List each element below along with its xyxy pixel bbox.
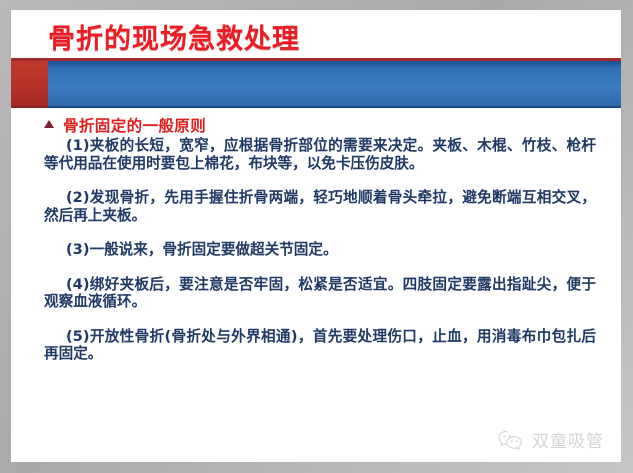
- page-title: 骨折的现场急救处理: [48, 26, 300, 53]
- triangle-bullet-icon: [44, 120, 54, 128]
- paragraph-item: (5)开放性骨折(骨折处与外界相通)，首先要处理伤口，止血，用消毒布巾包扎后再固…: [44, 328, 596, 363]
- slide-canvas: 骨折的现场急救处理 骨折固定的一般原则 (1)夹板的长短，宽窄，应根据骨折部位的…: [11, 10, 621, 462]
- section-heading-label: 骨折固定的一般原则: [63, 114, 206, 136]
- wechat-icon: [496, 429, 526, 451]
- band-blue-bar: [48, 61, 621, 108]
- section-heading: 骨折固定的一般原则: [44, 114, 206, 136]
- paragraph-item: (1)夹板的长短，宽窄，应根据骨折部位的需要来决定。夹板、木棍、竹枝、枪杆等代用…: [44, 137, 596, 172]
- paragraph-item: (4)绑好夹板后，要注意是否牢固，松紧是否适宜。四肢固定要露出指趾尖，便于观察血…: [44, 276, 596, 311]
- title-divider-band: [11, 58, 621, 112]
- paragraph-item: (3)一般说来，骨折固定要做超关节固定。: [44, 241, 596, 259]
- slide-outer-frame: 骨折的现场急救处理 骨折固定的一般原则 (1)夹板的长短，宽窄，应根据骨折部位的…: [0, 0, 633, 473]
- slide-content: 骨折固定的一般原则 (1)夹板的长短，宽窄，应根据骨折部位的需要来决定。夹板、木…: [11, 114, 621, 462]
- watermark: 双童吸管: [496, 427, 604, 452]
- band-red-accent-block: [11, 61, 48, 108]
- paragraph-list: (1)夹板的长短，宽窄，应根据骨折部位的需要来决定。夹板、木棍、竹枝、枪杆等代用…: [44, 137, 596, 363]
- paragraph-item: (2)发现骨折，先用手握住折骨两端，轻巧地顺着骨头牵拉，避免断端互相交叉，然后再…: [44, 189, 596, 224]
- watermark-label: 双童吸管: [532, 427, 604, 452]
